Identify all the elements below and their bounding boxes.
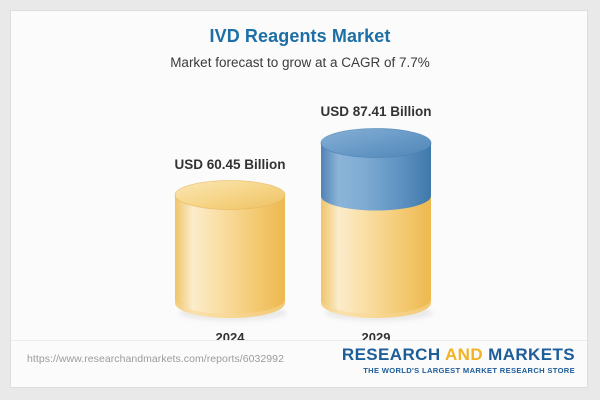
bar-2029[interactable] bbox=[319, 121, 433, 325]
bar-value-label-2029: USD 87.41 Billion bbox=[266, 104, 486, 119]
report-url[interactable]: https://www.researchandmarkets.com/repor… bbox=[27, 353, 284, 365]
logo-text-and: AND bbox=[445, 345, 483, 364]
logo-tagline: THE WORLD'S LARGEST MARKET RESEARCH STOR… bbox=[342, 366, 575, 375]
chart-card: IVD Reagents Market Market forecast to g… bbox=[10, 10, 588, 388]
cylinder-2024 bbox=[173, 173, 287, 325]
cylinder-2029 bbox=[319, 121, 433, 325]
bar-value-label-2024: USD 60.45 Billion bbox=[120, 157, 340, 172]
logo-text-research: RESEARCH bbox=[342, 345, 445, 364]
chart-plot-area: USD 60.45 Billion 2024 bbox=[11, 11, 588, 356]
logo-text-markets: MARKETS bbox=[483, 345, 575, 364]
bar-2024[interactable] bbox=[173, 173, 287, 325]
logo-wordmark: RESEARCH AND MARKETS bbox=[342, 346, 575, 364]
chart-footer: https://www.researchandmarkets.com/repor… bbox=[11, 340, 588, 387]
research-and-markets-logo[interactable]: RESEARCH AND MARKETS THE WORLD'S LARGEST… bbox=[342, 346, 575, 375]
